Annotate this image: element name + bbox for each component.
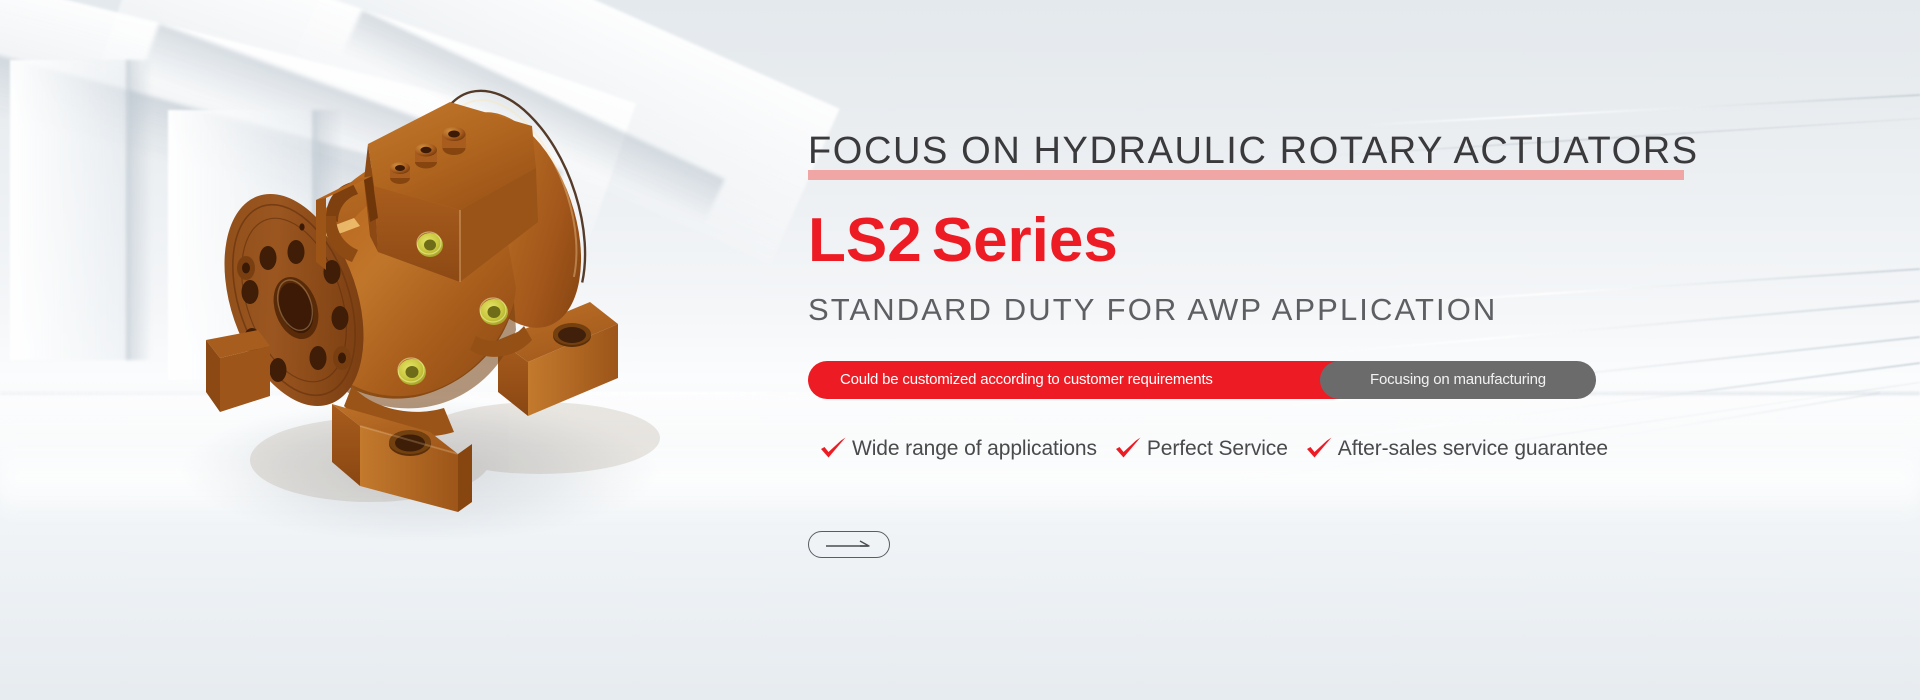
learn-more-button[interactable]: [808, 531, 890, 558]
title-underline: [808, 170, 1684, 180]
series-title: LS2Series: [808, 210, 1118, 272]
check-icon: [1304, 434, 1334, 464]
list-item: After-sales service guarantee: [1304, 434, 1608, 464]
dowel-pin-hole: [299, 223, 304, 230]
check-icon: [818, 434, 848, 464]
list-item-label: Wide range of applications: [852, 437, 1097, 461]
badge-primary-label: Could be customized according to custome…: [840, 361, 1213, 399]
list-item-label: After-sales service guarantee: [1338, 437, 1608, 461]
badge-secondary-label: Focusing on manufacturing: [1320, 361, 1596, 399]
mounting-foot-left: [206, 330, 270, 412]
list-item-label: Perfect Service: [1147, 437, 1288, 461]
page-subtitle: STANDARD DUTY FOR AWP APPLICATION: [808, 294, 1497, 325]
check-icon: [1113, 434, 1143, 464]
wall-pillar: [10, 60, 130, 360]
feature-list: Wide range of applications Perfect Servi…: [818, 434, 1608, 464]
banner-content: FOCUS ON HYDRAULIC ROTARY ACTUATORS LS2S…: [808, 0, 1868, 700]
list-item: Perfect Service: [1113, 434, 1288, 464]
product-image-hydraulic-rotary-actuator: [120, 40, 820, 560]
series-title-prefix: LS2: [808, 206, 922, 275]
series-title-suffix: Series: [932, 206, 1118, 275]
arrow-right-icon: [824, 539, 874, 551]
hero-banner: FOCUS ON HYDRAULIC ROTARY ACTUATORS LS2S…: [0, 0, 1920, 700]
list-item: Wide range of applications: [818, 434, 1097, 464]
page-title: FOCUS ON HYDRAULIC ROTARY ACTUATORS: [808, 132, 1699, 170]
